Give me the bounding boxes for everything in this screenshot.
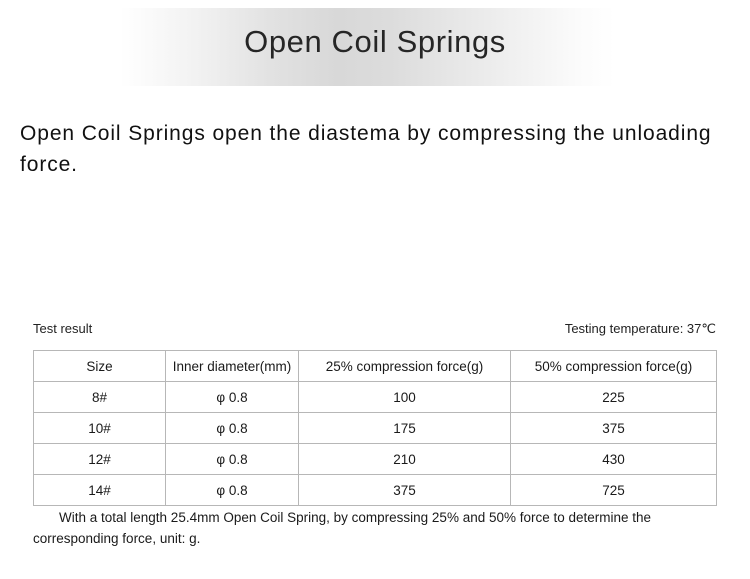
test-result-table: Size Inner diameter(mm) 25% compression … [33, 350, 717, 506]
column-header-size: Size [34, 351, 166, 382]
test-result-label: Test result [33, 320, 92, 338]
table-footnote: With a total length 25.4mm Open Coil Spr… [33, 507, 733, 549]
column-header-force-50: 50% compression force(g) [511, 351, 717, 382]
table-caption-row: Test result Testing temperature: 37℃ [33, 320, 716, 338]
cell-inner-diameter: φ 0.8 [166, 444, 299, 475]
intro-paragraph: Open Coil Springs open the diastema by c… [20, 118, 732, 180]
cell-force-50: 430 [511, 444, 717, 475]
cell-force-50: 225 [511, 382, 717, 413]
cell-size: 10# [34, 413, 166, 444]
cell-size: 12# [34, 444, 166, 475]
cell-force-25: 375 [299, 475, 511, 506]
cell-inner-diameter: φ 0.8 [166, 475, 299, 506]
cell-size: 8# [34, 382, 166, 413]
column-header-force-25: 25% compression force(g) [299, 351, 511, 382]
cell-force-50: 375 [511, 413, 717, 444]
cell-force-25: 210 [299, 444, 511, 475]
column-header-inner-diameter: Inner diameter(mm) [166, 351, 299, 382]
cell-size: 14# [34, 475, 166, 506]
cell-force-25: 100 [299, 382, 511, 413]
cell-inner-diameter: φ 0.8 [166, 413, 299, 444]
table-row: 8# φ 0.8 100 225 [34, 382, 717, 413]
testing-temperature-label: Testing temperature: 37℃ [565, 320, 716, 338]
table-row: 14# φ 0.8 375 725 [34, 475, 717, 506]
table-row: 10# φ 0.8 175 375 [34, 413, 717, 444]
cell-inner-diameter: φ 0.8 [166, 382, 299, 413]
page-title: Open Coil Springs [0, 20, 750, 64]
table-row: 12# φ 0.8 210 430 [34, 444, 717, 475]
table-header-row: Size Inner diameter(mm) 25% compression … [34, 351, 717, 382]
cell-force-50: 725 [511, 475, 717, 506]
cell-force-25: 175 [299, 413, 511, 444]
